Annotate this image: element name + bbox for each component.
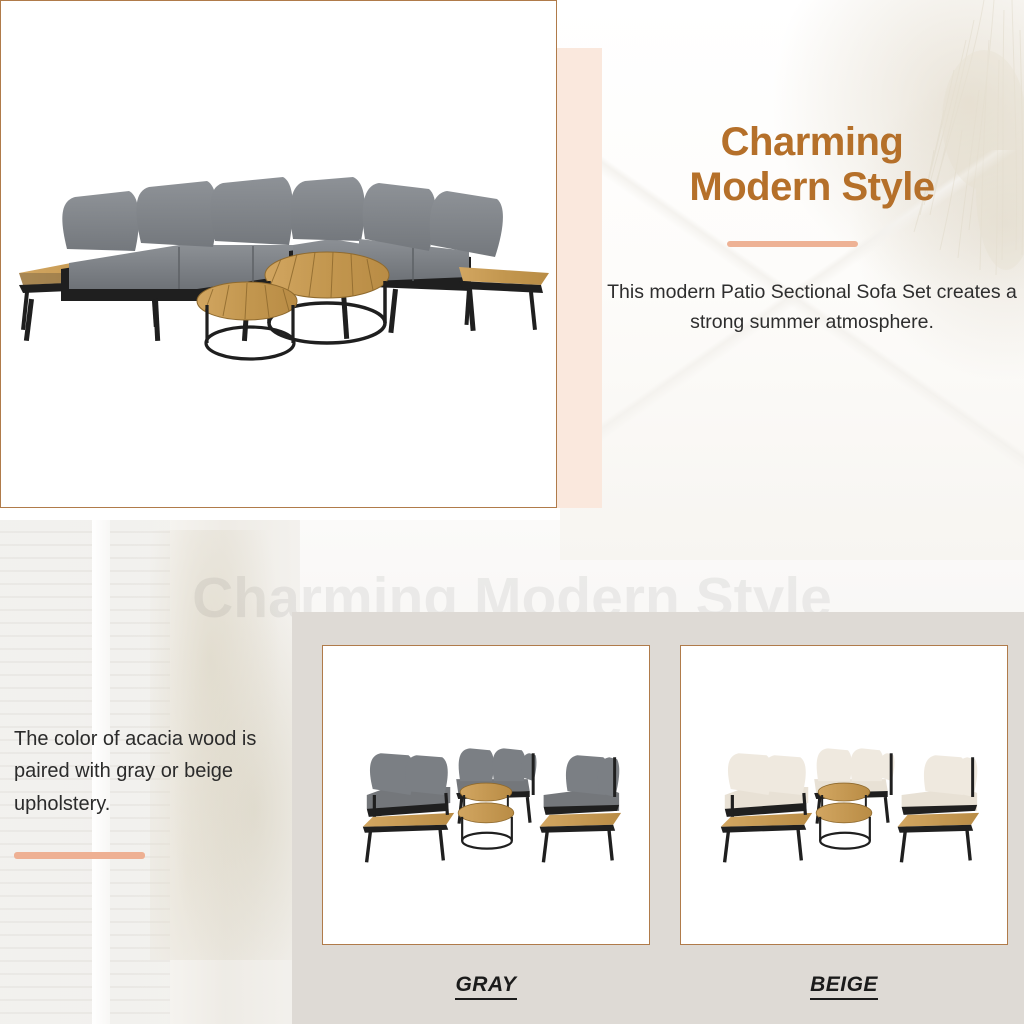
swatch-photo-frame-beige — [680, 645, 1008, 945]
hero-sectional-sofa-illustration — [1, 1, 558, 507]
swatch-label-beige: BEIGE — [680, 973, 1008, 997]
headline-divider-rule — [727, 241, 858, 247]
hero-lede-text: This modern Patio Sectional Sofa Set cre… — [604, 277, 1020, 337]
headline-line-1: Charming — [721, 120, 904, 164]
nesting-tables-gray — [458, 783, 514, 849]
color-swatch-gray[interactable]: GRAY — [322, 645, 650, 997]
bottom-left-accent-rule — [14, 852, 145, 859]
infographic-canvas: Charming Modern Style This modern Patio … — [0, 0, 1024, 1024]
willow-tree-icon — [834, 0, 1024, 430]
left-sofa-beige — [721, 753, 812, 862]
right-sofa-gray — [540, 755, 621, 862]
hero-product-photo-card — [0, 0, 557, 508]
right-sofa-beige — [898, 755, 979, 862]
headline-line-2: Modern Style — [600, 165, 1024, 210]
color-swatch-beige[interactable]: BEIGE — [680, 645, 1008, 997]
bottom-left-copy: The color of acacia wood is paired with … — [14, 723, 286, 820]
sofa-set-gray-illustration — [323, 646, 649, 944]
swatch-label-gray: GRAY — [322, 973, 650, 997]
hero-headline: Charming Modern Style — [600, 120, 1024, 210]
corner-back-cushion — [290, 177, 365, 241]
nesting-table-small — [197, 282, 297, 359]
left-sofa-gray — [363, 753, 454, 862]
left-back-cushions — [62, 177, 293, 251]
swatch-photo-frame-gray — [322, 645, 650, 945]
sofa-set-beige-illustration — [681, 646, 1007, 944]
nesting-tables-beige — [816, 783, 872, 849]
